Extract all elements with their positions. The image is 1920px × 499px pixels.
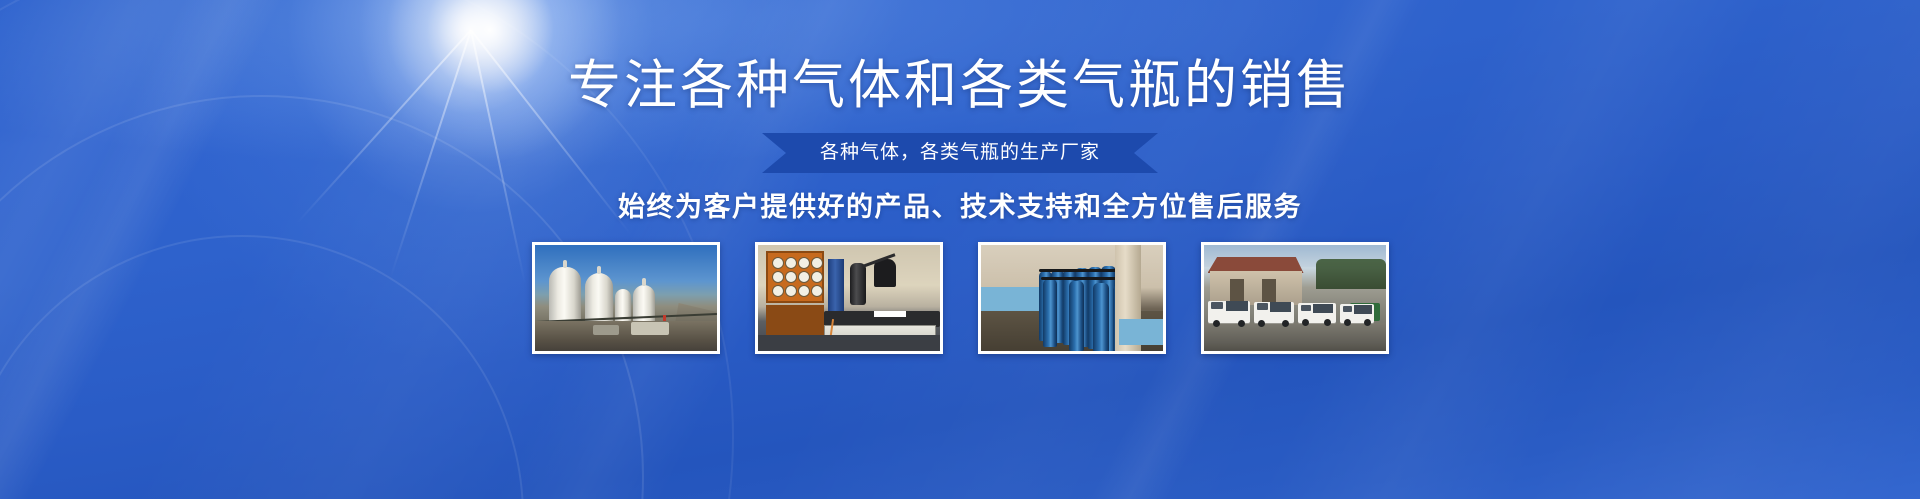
page-subtitle: 始终为客户提供好的产品、技术支持和全方位售后服务 (0, 188, 1920, 226)
gallery-item[interactable] (532, 242, 720, 354)
gallery-item[interactable] (978, 242, 1166, 354)
gallery-item[interactable] (755, 242, 943, 354)
photo-blue-gas-cylinders (981, 245, 1163, 351)
gallery-item[interactable] (1201, 242, 1389, 354)
photo-cryogenic-storage-tanks (535, 245, 717, 351)
photo-delivery-trucks (1204, 245, 1386, 351)
photo-gallery (0, 242, 1920, 360)
hero-banner: 专注各种气体和各类气瓶的销售 各种气体，各类气瓶的生产厂家 始终为客户提供好的产… (0, 0, 1920, 499)
photo-gauge-test-panel (758, 245, 940, 351)
page-title: 专注各种气体和各类气瓶的销售 (0, 55, 1920, 117)
ribbon-label: 各种气体，各类气瓶的生产厂家 (820, 133, 1100, 173)
ribbon-banner: 各种气体，各类气瓶的生产厂家 (0, 133, 1920, 173)
